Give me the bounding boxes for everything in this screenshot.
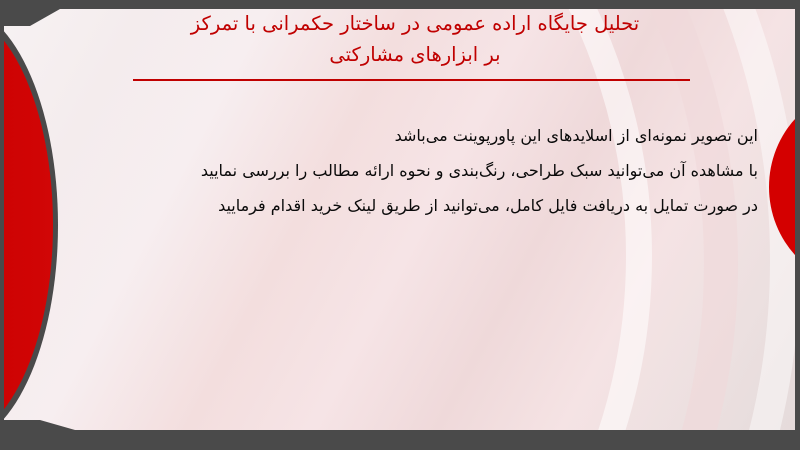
left-gray-edge bbox=[0, 0, 4, 450]
title-line-1: تحلیل جایگاه اراده عمومی در ساختار حکمرا… bbox=[120, 8, 710, 39]
slide-title: تحلیل جایگاه اراده عمومی در ساختار حکمرا… bbox=[120, 8, 710, 70]
title-underline-rule bbox=[133, 79, 690, 81]
right-gray-edge bbox=[795, 0, 800, 450]
title-line-2: بر ابزارهای مشارکتی bbox=[120, 39, 710, 70]
body-line-1: این تصویر نمونه‌ای از اسلایدهای این پاور… bbox=[98, 118, 758, 153]
slide-body-text: این تصویر نمونه‌ای از اسلایدهای این پاور… bbox=[98, 118, 758, 223]
body-line-3: در صورت تمایل به دریافت فایل کامل، می‌تو… bbox=[98, 188, 758, 223]
body-line-2: با مشاهده آن می‌توانید سبک طراحی، رنگ‌بن… bbox=[98, 153, 758, 188]
slide-canvas: تحلیل جایگاه اراده عمومی در ساختار حکمرا… bbox=[0, 0, 800, 450]
